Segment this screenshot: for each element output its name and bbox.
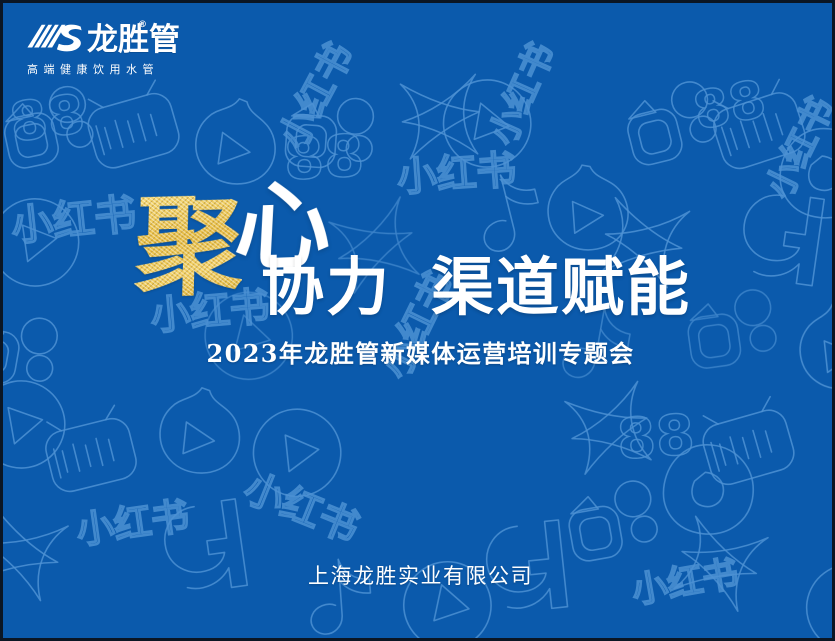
svg-text:88: 88 bbox=[615, 402, 697, 472]
brand-logo: 龙胜管 ® 高端健康饮用水管 bbox=[25, 15, 211, 77]
headline-phrases: 协力 渠道赋能 bbox=[261, 255, 691, 321]
logo-row: 龙胜管 ® bbox=[25, 15, 211, 57]
svg-text:小红书: 小红书 bbox=[482, 37, 563, 151]
logo-wordmark: 龙胜管 ® bbox=[87, 23, 180, 57]
logo-wordmark-text: 龙胜管 bbox=[87, 22, 180, 58]
headline-keyword-ju: 聚 bbox=[134, 192, 245, 303]
footer-company-name: 上海龙胜实业有限公司 bbox=[3, 560, 835, 590]
svg-text:小红书: 小红书 bbox=[238, 465, 366, 552]
registered-trademark-icon: ® bbox=[138, 21, 147, 30]
svg-text:小红书: 小红书 bbox=[270, 36, 362, 156]
presentation-slide: 小红书 小红书 小红书 小红书 小红书 小红书 小红书 小红书 小红书 小红书 … bbox=[0, 0, 835, 641]
headline-block: 聚 心 协力 渠道赋能 2023年龙胜管新媒体运营培训专题会 bbox=[3, 179, 835, 359]
headline-phrase-xieli: 协力 bbox=[261, 255, 391, 321]
headline-subtitle: 2023年龙胜管新媒体运营培训专题会 bbox=[3, 334, 835, 369]
svg-text:小红书: 小红书 bbox=[74, 494, 192, 553]
svg-text:88: 88 bbox=[688, 69, 771, 143]
headline-phrase-qudaofuneng: 渠道赋能 bbox=[431, 255, 691, 321]
svg-text:88: 88 bbox=[6, 82, 89, 155]
logo-tagline: 高端健康饮用水管 bbox=[25, 61, 211, 77]
longsheng-s-mark-icon bbox=[25, 19, 85, 57]
